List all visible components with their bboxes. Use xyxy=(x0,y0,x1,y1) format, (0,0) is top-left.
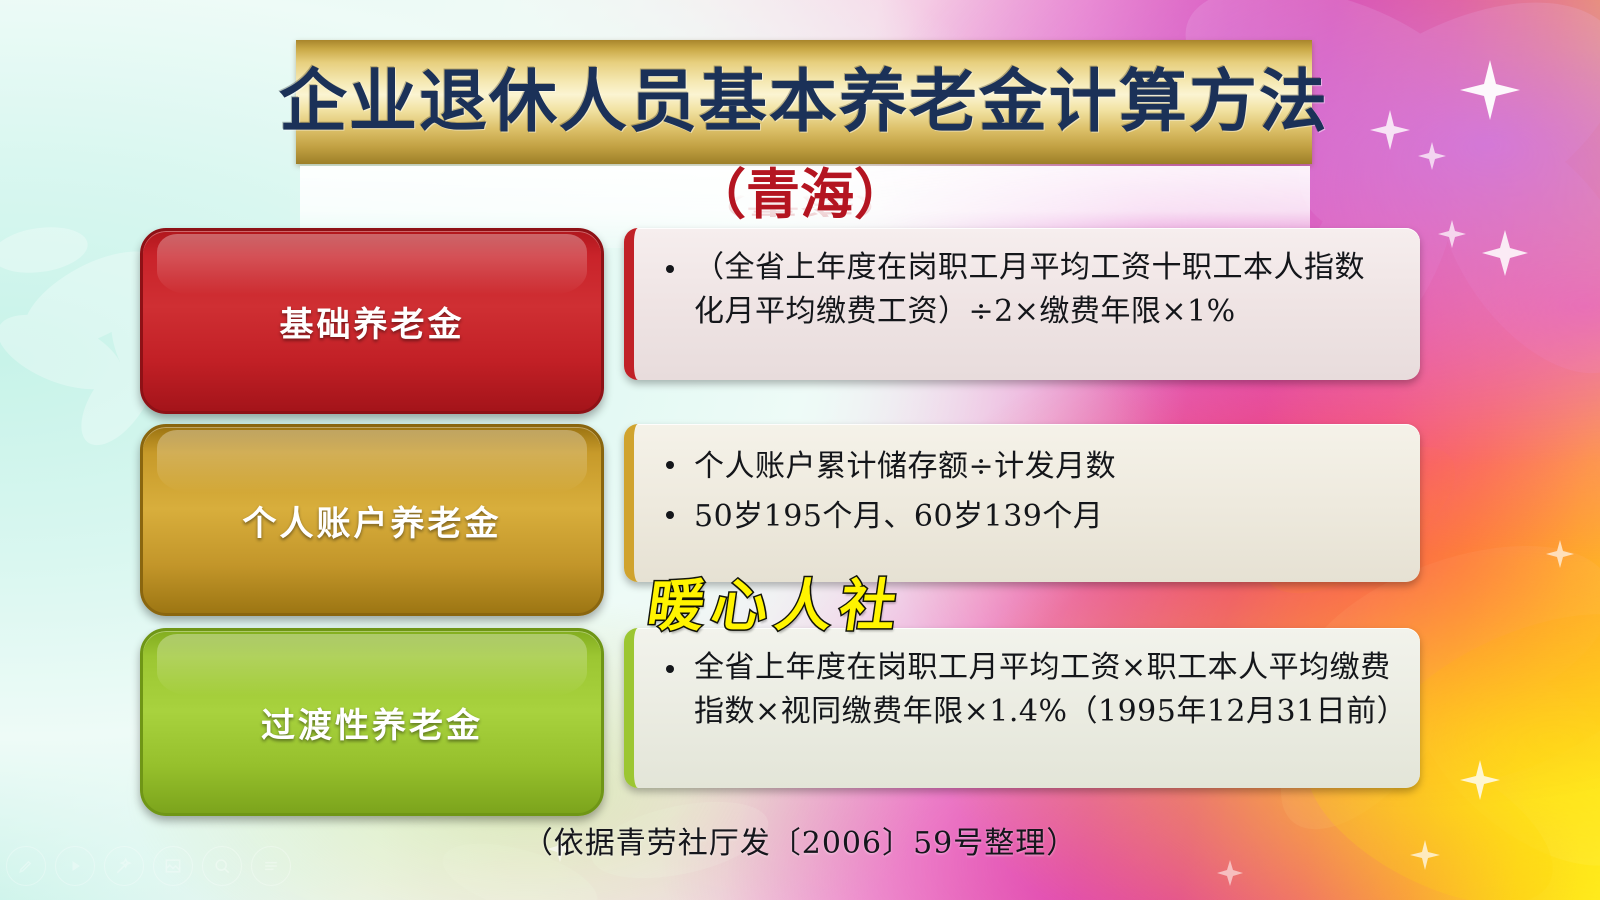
list-item: 50岁195个月、60岁139个月 xyxy=(654,492,1394,542)
formula-panel-basic-pension: （全省上年度在岗职工月平均工资十职工本人指数化月平均缴费工资）÷2×缴费年限×1… xyxy=(624,228,1420,380)
pension-row-basic: 基础养老金 （全省上年度在岗职工月平均工资十职工本人指数化月平均缴费工资）÷2×… xyxy=(140,228,1420,410)
formula-list: 个人账户累计储存额÷计发月数 50岁195个月、60岁139个月 xyxy=(654,442,1394,542)
page-title: 企业退休人员基本养老金计算方法 xyxy=(279,68,1329,136)
formula-list: （全省上年度在岗职工月平均工资十职工本人指数化月平均缴费工资）÷2×缴费年限×1… xyxy=(654,246,1394,334)
magic-wand-icon[interactable] xyxy=(104,846,144,886)
formula-panel-personal-account: 个人账户累计储存额÷计发月数 50岁195个月、60岁139个月 xyxy=(624,424,1420,582)
play-circle-icon[interactable] xyxy=(55,846,95,886)
label-box-basic-pension[interactable]: 基础养老金 xyxy=(140,228,604,414)
label-text: 个人账户养老金 xyxy=(243,496,502,545)
icon-strip xyxy=(6,846,291,886)
title-banner: 企业退休人员基本养老金计算方法 xyxy=(296,40,1312,164)
list-item: 个人账户累计储存额÷计发月数 xyxy=(654,442,1394,492)
label-box-personal-account-pension[interactable]: 个人账户养老金 xyxy=(140,424,604,616)
list-lines-icon[interactable] xyxy=(251,846,291,886)
list-item: 全省上年度在岗职工月平均工资×职工本人平均缴费指数×视同缴费年限×1.4%（19… xyxy=(654,646,1394,734)
image-frame-icon[interactable] xyxy=(153,846,193,886)
pension-row-transitional: 过渡性养老金 全省上年度在岗职工月平均工资×职工本人平均缴费指数×视同缴费年限×… xyxy=(140,628,1420,814)
pen-circle-icon[interactable] xyxy=(6,846,46,886)
search-icon[interactable] xyxy=(202,846,242,886)
watermark-text: 暖心人社 xyxy=(644,578,908,634)
list-item: （全省上年度在岗职工月平均工资十职工本人指数化月平均缴费工资）÷2×缴费年限×1… xyxy=(654,246,1394,334)
label-text: 过渡性养老金 xyxy=(261,698,483,747)
formula-panel-transitional: 全省上年度在岗职工月平均工资×职工本人平均缴费指数×视同缴费年限×1.4%（19… xyxy=(624,628,1420,788)
label-box-transitional-pension[interactable]: 过渡性养老金 xyxy=(140,628,604,816)
label-text: 基础养老金 xyxy=(280,297,465,346)
slide-canvas: 企业退休人员基本养老金计算方法 （青海） （青海） 基础养老金 （全省上年度在岗… xyxy=(0,0,1600,900)
formula-list: 全省上年度在岗职工月平均工资×职工本人平均缴费指数×视同缴费年限×1.4%（19… xyxy=(654,646,1394,734)
